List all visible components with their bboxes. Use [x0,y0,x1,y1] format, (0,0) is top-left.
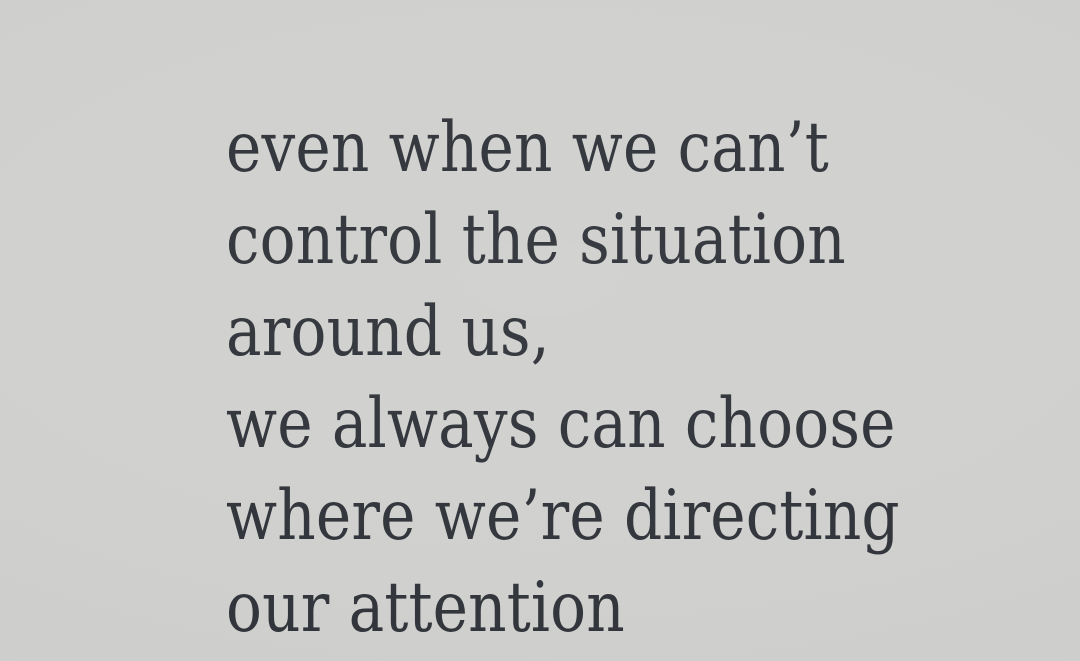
quote-line-2: control the situation [226,194,970,286]
quote-line-6: our attention [226,562,970,654]
quote-line-4: we always can choose [226,378,970,470]
quote-image-canvas: even when we can’t control the situation… [0,0,1080,661]
quote-line-3: around us, [226,286,970,378]
quote-text-block: even when we can’t control the situation… [226,102,1080,654]
quote-line-5: where we’re directing [226,470,970,562]
quote-line-1: even when we can’t [226,102,970,194]
